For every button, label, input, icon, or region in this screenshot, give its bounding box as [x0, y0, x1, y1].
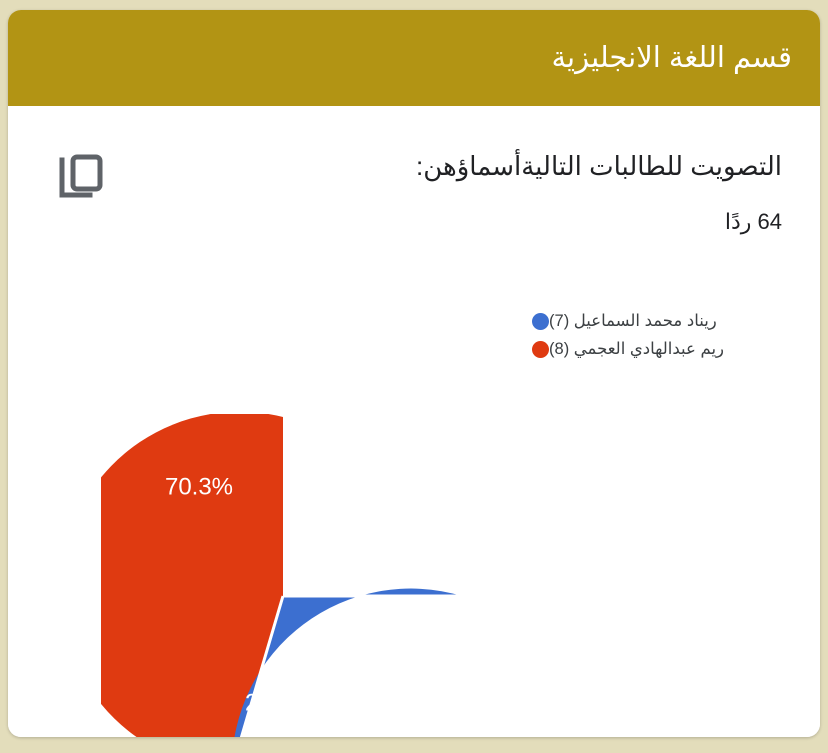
pie-label-blue: 29.7% — [245, 689, 313, 716]
legend-label: ريناد محمد السماعيل (7) — [549, 311, 717, 331]
card-body: التصويت للطالبات التاليةأسماؤهن: 64 ردًا… — [8, 106, 820, 737]
question-title: التصويت للطالبات التاليةأسماؤهن: — [8, 150, 782, 184]
legend-swatch-red-icon — [532, 341, 549, 358]
page-root: قسم اللغة الانجليزية التصويت للطالبات ال… — [0, 0, 828, 753]
form-title: قسم اللغة الانجليزية — [551, 40, 792, 76]
pie-chart-area: ريناد محمد السماعيل (7) ريم عبدالهادي ال… — [8, 286, 820, 737]
legend-item[interactable]: ريم عبدالهادي العجمي (8) — [532, 339, 735, 359]
question-block: التصويت للطالبات التاليةأسماؤهن: 64 ردًا — [8, 106, 820, 236]
chart-legend: ريناد محمد السماعيل (7) ريم عبدالهادي ال… — [532, 311, 735, 367]
legend-label: ريم عبدالهادي العجمي (8) — [549, 339, 724, 359]
form-header: قسم اللغة الانجليزية — [8, 10, 820, 106]
pie-chart[interactable]: 70.3% 29.7% — [101, 414, 465, 737]
response-count: 64 ردًا — [8, 208, 782, 237]
pie-label-red: 70.3% — [165, 473, 233, 500]
legend-item[interactable]: ريناد محمد السماعيل (7) — [532, 311, 735, 331]
legend-swatch-blue-icon — [532, 313, 549, 330]
form-response-card: قسم اللغة الانجليزية التصويت للطالبات ال… — [8, 10, 820, 737]
